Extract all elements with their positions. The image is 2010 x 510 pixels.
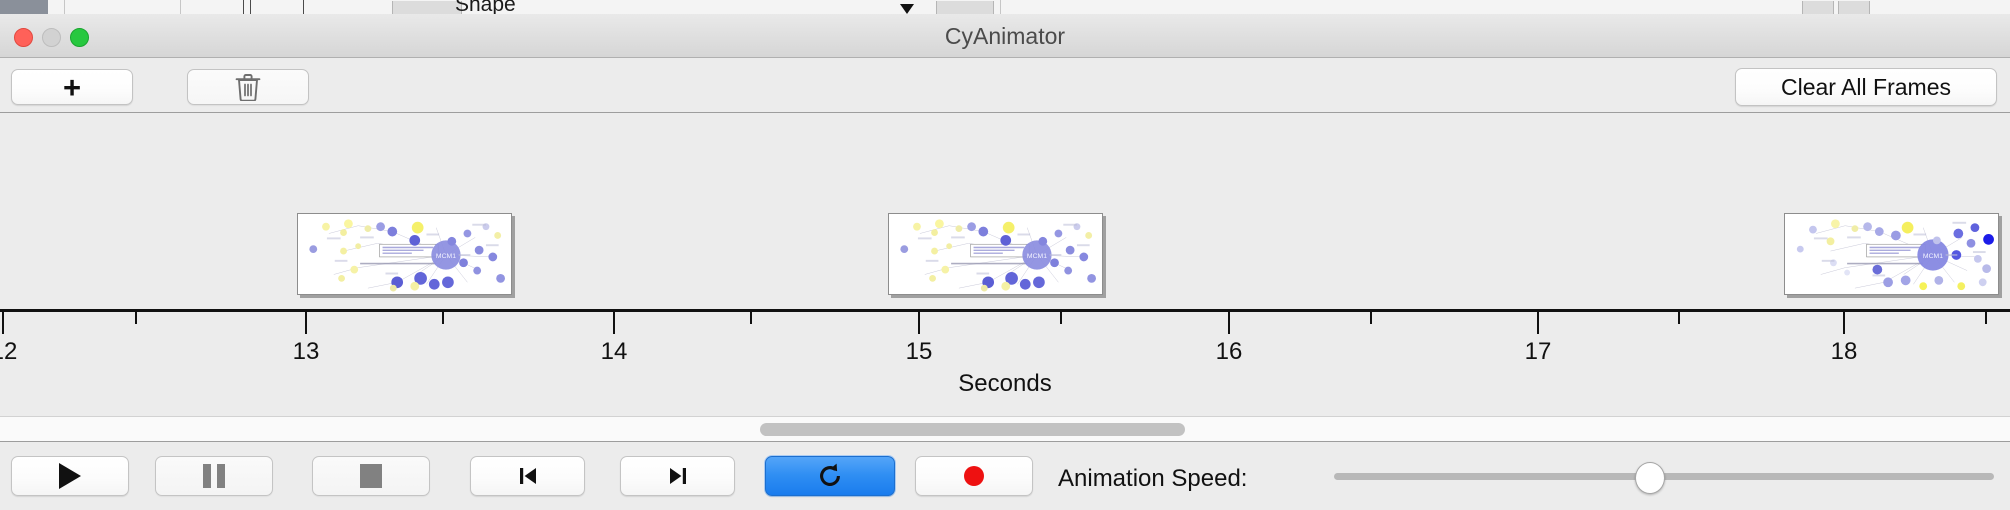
axis-tick-minor — [1678, 312, 1680, 324]
axis-tick-minor — [442, 312, 444, 324]
axis-tick-major — [1228, 312, 1230, 334]
clear-all-frames-label: Clear All Frames — [1781, 74, 1951, 101]
axis-tick-label: 12 — [0, 338, 17, 366]
next-frame-button[interactable] — [620, 456, 735, 496]
window-title: CyAnimator — [0, 14, 2010, 58]
record-button[interactable] — [915, 456, 1033, 496]
svg-text:MCM1: MCM1 — [1923, 253, 1943, 260]
animation-speed-slider[interactable] — [1334, 456, 1994, 496]
axis-tick-major — [2, 312, 4, 334]
pause-button[interactable] — [155, 456, 273, 496]
svg-text:MCM1: MCM1 — [1027, 253, 1047, 260]
clear-all-frames-button[interactable]: Clear All Frames — [1735, 68, 1997, 106]
playback-control-bar: Animation Speed: — [0, 443, 2010, 510]
loop-button[interactable] — [765, 456, 895, 496]
network-thumbnail-graphic: MCM1 — [889, 214, 1102, 294]
axis-tick-major — [918, 312, 920, 334]
background-cell — [1802, 1, 1834, 14]
cyanimator-window: Shape CyAnimator + Clear All Fram — [0, 0, 2010, 510]
background-tick — [250, 0, 251, 14]
play-button[interactable] — [11, 456, 129, 496]
timeline-frame-thumbnail[interactable]: MCM1 — [1784, 213, 1999, 295]
skip-forward-icon — [665, 463, 691, 489]
previous-frame-button[interactable] — [470, 456, 585, 496]
axis-tick-label: 13 — [293, 338, 320, 366]
skip-back-icon — [515, 463, 541, 489]
record-icon — [961, 463, 987, 489]
timeline-axis-line — [0, 309, 2010, 312]
axis-tick-label: 14 — [601, 338, 628, 366]
background-window-label: Shape — [455, 0, 516, 15]
axis-tick-label: 15 — [906, 338, 933, 366]
network-thumbnail-graphic: MCM1 — [298, 214, 511, 294]
timeline-scrollbar[interactable] — [0, 416, 2010, 442]
pause-icon — [203, 464, 225, 488]
timeline-frame-thumbnail[interactable]: MCM1 — [297, 213, 512, 295]
timeline-scrollbar-thumb[interactable] — [760, 423, 1185, 436]
background-cell — [936, 1, 994, 14]
axis-tick-major — [305, 312, 307, 334]
svg-text:MCM1: MCM1 — [436, 253, 456, 260]
background-tick — [303, 0, 304, 14]
axis-tick-minor — [1060, 312, 1062, 324]
background-seam — [1000, 0, 1001, 14]
delete-frame-button[interactable] — [187, 69, 309, 105]
axis-tick-major — [1843, 312, 1845, 334]
loop-icon — [816, 462, 844, 490]
timeline-frame-thumbnail[interactable]: MCM1 — [888, 213, 1103, 295]
background-arrow-icon — [900, 4, 914, 14]
animation-speed-label: Animation Speed: — [1058, 465, 1247, 493]
background-window-strip: Shape — [0, 0, 2010, 15]
background-cell — [392, 1, 462, 14]
background-seam — [180, 0, 181, 14]
add-frame-button[interactable]: + — [11, 69, 133, 105]
background-tick — [243, 0, 244, 14]
axis-tick-minor — [750, 312, 752, 324]
axis-tick-major — [1537, 312, 1539, 334]
axis-tick-minor — [1370, 312, 1372, 324]
axis-tick-label: 18 — [1831, 338, 1858, 366]
frame-toolbar: + Clear All Frames — [0, 58, 2010, 113]
axis-tick-label: 17 — [1525, 338, 1552, 366]
axis-tick-minor — [135, 312, 137, 324]
play-icon — [59, 463, 81, 489]
stop-button[interactable] — [312, 456, 430, 496]
background-cell — [1838, 1, 1870, 14]
network-thumbnail-graphic: MCM1 — [1785, 214, 1998, 294]
background-window-corner — [0, 0, 48, 14]
slider-thumb[interactable] — [1635, 462, 1665, 494]
axis-title: Seconds — [0, 370, 2010, 398]
axis-tick-minor — [1985, 312, 1987, 324]
trash-icon — [235, 73, 261, 101]
axis-tick-label: 16 — [1216, 338, 1243, 366]
stop-icon — [360, 464, 382, 488]
title-bar[interactable]: CyAnimator — [0, 14, 2010, 58]
timeline-panel[interactable]: MCM1 — [0, 113, 2010, 416]
background-seam — [64, 0, 65, 14]
plus-icon: + — [63, 72, 81, 103]
axis-tick-major — [613, 312, 615, 334]
